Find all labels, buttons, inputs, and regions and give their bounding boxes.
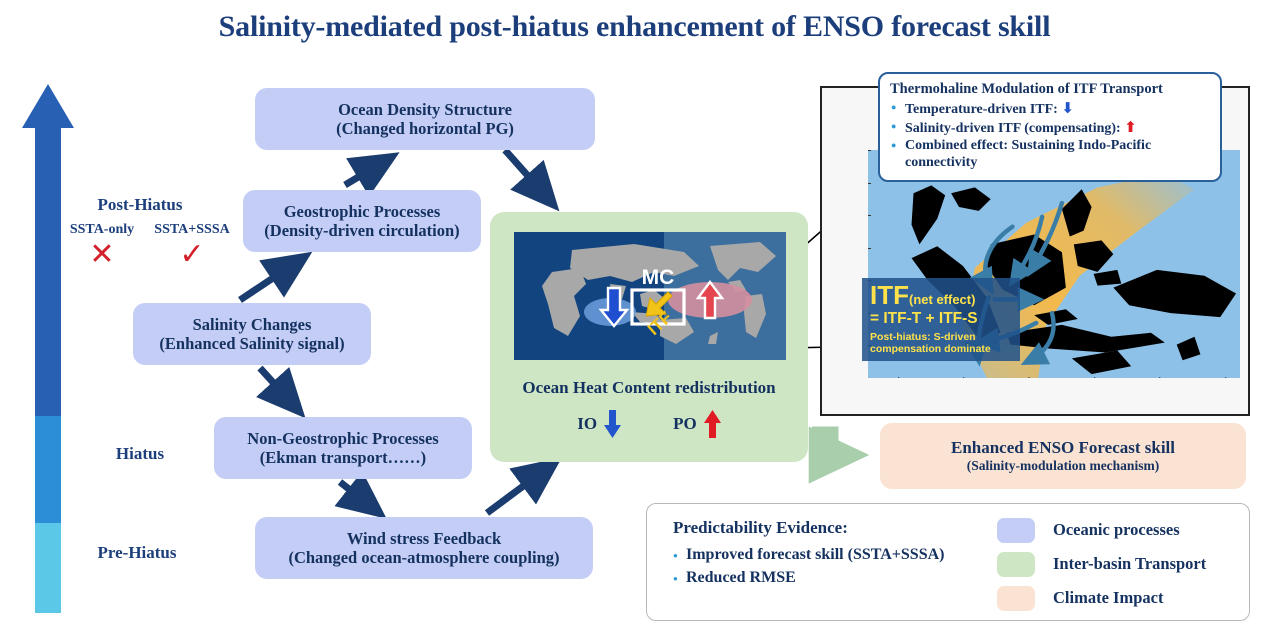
- itf-label: ITF: [870, 280, 909, 310]
- bullet-text: Temperature-driven ITF:: [905, 102, 1058, 117]
- process-box-ocean-density-structure[interactable]: Ocean Density Structure (Changed horizon…: [255, 88, 595, 150]
- down-arrow-icon: [604, 410, 621, 438]
- callout-bullet-salinity-driven: Salinity-driven ITF (compensating): ⬆: [890, 118, 1210, 137]
- legend-panel: Predictability Evidence: Improved foreca…: [646, 503, 1250, 621]
- process-box-subtitle: (Ekman transport……): [260, 448, 426, 467]
- basin-indicator-po: PO: [673, 410, 721, 438]
- process-box-non-geostrophic-processes[interactable]: Non-Geostrophic Processes (Ekman transpo…: [214, 417, 472, 479]
- world-map-graphic: MC ITF: [514, 232, 786, 360]
- process-box-subtitle: (Changed ocean-atmosphere coupling): [288, 548, 559, 567]
- down-arrow-icon: ⬇: [1061, 99, 1074, 117]
- process-box-geostrophic-processes[interactable]: Geostrophic Processes (Density-driven ci…: [243, 190, 481, 252]
- callout-bullet-list: Temperature-driven ITF: ⬇ Salinity-drive…: [890, 99, 1210, 171]
- basin-label-io: IO: [577, 414, 597, 434]
- evidence-list: Improved forecast skill (SSTA+SSSA) Redu…: [673, 544, 1003, 589]
- process-box-subtitle: (Changed horizontal PG): [336, 119, 514, 138]
- legend-swatch-oceanic-processes: [997, 518, 1035, 543]
- itf-note: Post-hiatus: S-driven compensation domin…: [870, 331, 1013, 355]
- bullet-text: Salinity-driven ITF (compensating):: [905, 121, 1121, 136]
- itf-net-effect-heading: ITF(net effect): [870, 282, 1013, 308]
- skill-box-title: Enhanced ENSO Forecast skill: [951, 438, 1175, 458]
- world-map-thumbnail: MC ITF: [514, 232, 786, 360]
- callout-bullet-temperature-driven: Temperature-driven ITF: ⬇: [890, 99, 1210, 118]
- evidence-title: Predictability Evidence:: [673, 518, 1003, 538]
- bullet-text: Combined effect: Sustaining Indo-Pacific…: [905, 138, 1151, 170]
- timeline-segment-hiatus: [35, 416, 61, 523]
- itf-net-effect-suffix: (net effect): [909, 292, 975, 307]
- category-legend: Oceanic processes Inter-basin Transport …: [997, 514, 1206, 616]
- ohc-basin-indicators: IO PO: [490, 404, 808, 444]
- process-box-subtitle: (Enhanced Salinity signal): [159, 334, 344, 353]
- process-box-wind-stress-feedback[interactable]: Wind stress Feedback (Changed ocean-atmo…: [255, 517, 593, 579]
- up-arrow-icon: ⬆: [1124, 118, 1137, 136]
- timeline-arrow: [22, 84, 74, 614]
- timeline-label-pre-hiatus: Pre-Hiatus: [52, 543, 222, 563]
- timeline-segment-post-hiatus: [35, 128, 61, 416]
- page-title: Salinity-mediated post-hiatus enhancemen…: [0, 10, 1269, 44]
- cross-mark-icon: ✕: [56, 240, 148, 270]
- basin-label-po: PO: [673, 414, 697, 434]
- legend-label-climate-impact: Climate Impact: [1053, 588, 1163, 608]
- basin-indicator-io: IO: [577, 410, 621, 438]
- evidence-item-reduced-rmse: Reduced RMSE: [673, 567, 1003, 590]
- process-box-title: Non-Geostrophic Processes: [247, 429, 438, 448]
- thermohaline-info-callout: Thermohaline Modulation of ITF Transport…: [878, 72, 1222, 182]
- timeline-label-hiatus: Hiatus: [60, 444, 220, 464]
- legend-row-inter-basin-transport: Inter-basin Transport: [997, 548, 1206, 580]
- legend-row-oceanic-processes: Oceanic processes: [997, 514, 1206, 546]
- legend-label-inter-basin-transport: Inter-basin Transport: [1053, 554, 1206, 574]
- process-box-title: Geostrophic Processes: [284, 202, 441, 221]
- itf-net-effect-callout: ITF(net effect) = ITF-T + ITF-S Post-hia…: [862, 278, 1020, 361]
- timeline-segment-pre-hiatus: [35, 523, 61, 613]
- up-arrow-icon: [704, 410, 721, 438]
- process-box-salinity-changes[interactable]: Salinity Changes (Enhanced Salinity sign…: [133, 303, 371, 365]
- timeline-label-post-hiatus: Post-Hiatus: [60, 195, 220, 215]
- skill-column-label-ssta-sssa: SSTA+SSSA: [140, 222, 244, 238]
- legend-swatch-climate-impact: [997, 586, 1035, 611]
- process-box-title: Wind stress Feedback: [347, 529, 501, 548]
- process-box-subtitle: (Density-driven circulation): [264, 221, 459, 240]
- itf-equation: = ITF-T + ITF-S: [870, 310, 1013, 328]
- process-box-title: Ocean Density Structure: [338, 100, 512, 119]
- process-box-title: Salinity Changes: [193, 315, 312, 334]
- callout-bullet-combined-effect: Combined effect: Sustaining Indo-Pacific…: [890, 137, 1210, 171]
- check-mark-icon: ✓: [140, 240, 244, 270]
- enhanced-enso-forecast-skill-box[interactable]: Enhanced ENSO Forecast skill (Salinity-m…: [880, 423, 1246, 489]
- diagram-canvas: Salinity-mediated post-hiatus enhancemen…: [0, 0, 1269, 630]
- legend-row-climate-impact: Climate Impact: [997, 582, 1206, 614]
- predictability-evidence-block: Predictability Evidence: Improved foreca…: [673, 518, 1003, 589]
- skill-column-label-ssta-only: SSTA-only: [56, 222, 148, 238]
- itf-note-line2: compensation dominate: [870, 343, 991, 355]
- legend-label-oceanic-processes: Oceanic processes: [1053, 520, 1180, 540]
- itf-note-line1: Post-hiatus: S-driven: [870, 331, 976, 343]
- timeline-arrowhead-icon: [22, 84, 74, 130]
- skill-box-subtitle: (Salinity-modulation mechanism): [967, 458, 1159, 474]
- callout-header: Thermohaline Modulation of ITF Transport: [890, 81, 1210, 98]
- legend-swatch-inter-basin-transport: [997, 552, 1035, 577]
- evidence-item-improved-skill: Improved forecast skill (SSTA+SSSA): [673, 544, 1003, 567]
- svg-text:MC: MC: [642, 266, 675, 289]
- ohc-caption: Ocean Heat Content redistribution: [490, 378, 808, 398]
